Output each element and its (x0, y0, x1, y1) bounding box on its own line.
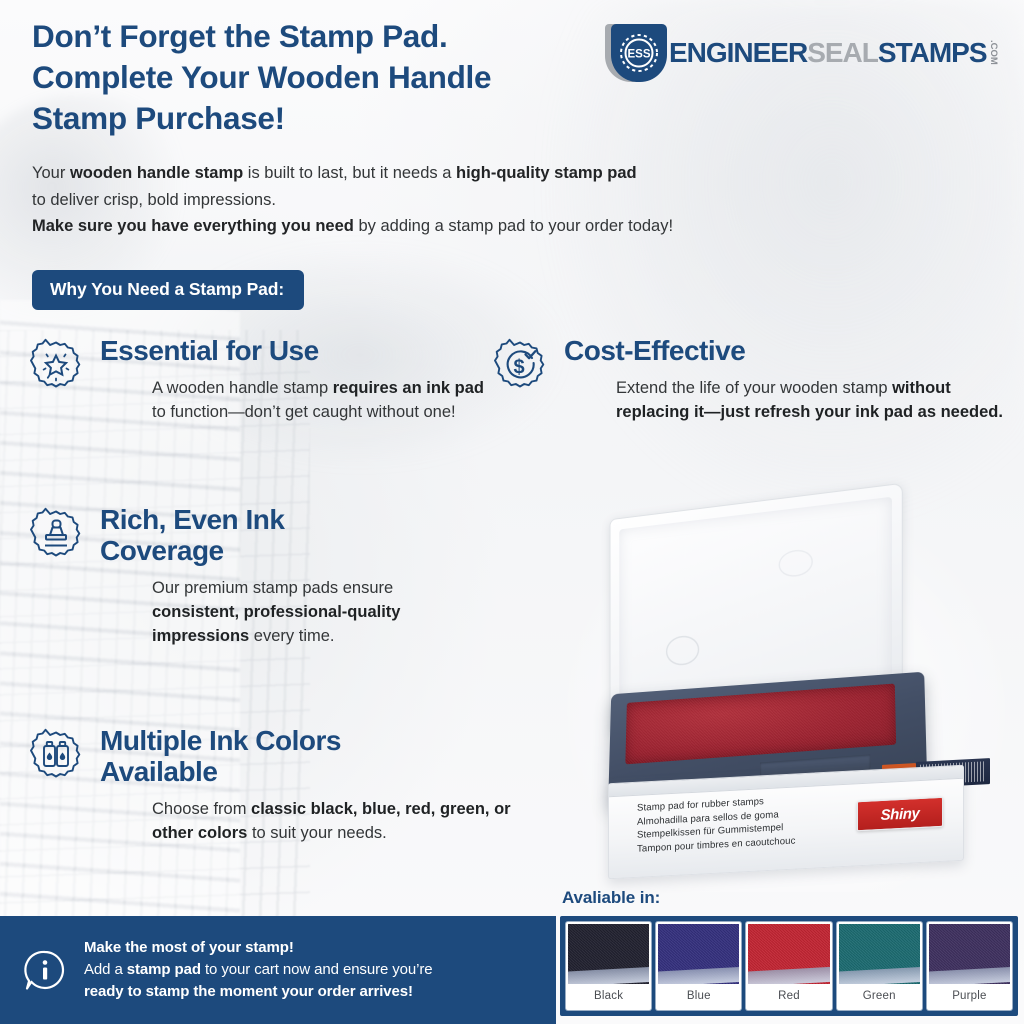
badge-star-icon (28, 338, 84, 394)
feature-title: Rich, Even Ink Coverage (100, 505, 458, 567)
shiny-brand-logo: Shiny (857, 797, 943, 832)
feature-title: Multiple Ink Colors Available (100, 726, 538, 788)
box-multilingual-text: Stamp pad for rubber stamps Almohadilla … (637, 794, 796, 857)
brand-logo[interactable]: ESS ENGINEERSEALSTAMPS.COM (605, 24, 998, 82)
intro-paragraph: Your wooden handle stamp is built to las… (32, 160, 912, 240)
ess-badge-text: ESS (627, 49, 650, 61)
info-bubble-icon (22, 947, 68, 993)
footer-cta-banner: Make the most of your stamp! Add a stamp… (0, 916, 556, 1024)
section-badge-why-stamp-pad: Why You Need a Stamp Pad: (32, 270, 304, 310)
feature-title: Cost-Effective (564, 336, 1022, 367)
product-box: Stamp pad for rubber stamps Almohadilla … (608, 765, 964, 880)
intro-line-2: to deliver crisp, bold impressions. (32, 187, 912, 214)
svg-text:$: $ (513, 357, 524, 379)
infographic-page: Don’t Forget the Stamp Pad. Complete You… (0, 0, 1024, 1024)
badge-stamp-icon (28, 507, 84, 563)
page-title: Don’t Forget the Stamp Pad. Complete You… (32, 16, 652, 139)
header: Don’t Forget the Stamp Pad. Complete You… (32, 16, 992, 139)
footer-line-1: Make the most of your stamp! (84, 937, 433, 959)
swatch-chip (568, 924, 649, 984)
intro-line-3: Make sure you have everything you need b… (32, 213, 912, 240)
headline-line-2: Complete Your Wooden Handle (32, 57, 652, 98)
swatch-black[interactable]: Black (566, 922, 651, 1010)
swatch-red[interactable]: Red (746, 922, 831, 1010)
ess-gear-badge-icon: ESS (605, 24, 667, 82)
swatch-label: Red (748, 984, 829, 1008)
feature-rich-even-ink-coverage: Rich, Even Ink Coverage Our premium stam… (28, 505, 458, 649)
swatch-green[interactable]: Green (837, 922, 922, 1010)
headline-line-3: Stamp Purchase! (32, 98, 652, 139)
swatch-chip (748, 924, 829, 984)
feature-body: Extend the life of your wooden stamp wit… (564, 376, 1022, 425)
swatch-chip (929, 924, 1010, 984)
footer-line-2: Add a stamp pad to your cart now and ens… (84, 959, 433, 981)
swatch-label: Blue (658, 984, 739, 1008)
badge-ink-bottles-icon (28, 728, 84, 784)
logo-word-stamps: STAMPS (878, 39, 987, 67)
logo-word-engineer: ENGINEER (669, 39, 807, 67)
feature-body: Our premium stamp pads ensure consistent… (100, 576, 458, 649)
swatch-label: Purple (929, 984, 1010, 1008)
swatch-label: Black (568, 984, 649, 1008)
red-ink-pad (625, 684, 896, 765)
feature-body: A wooden handle stamp requires an ink pa… (100, 376, 488, 425)
product-photo-stamp-pad: Stamp pad for rubber stamps Almohadilla … (556, 492, 1016, 892)
swatch-blue[interactable]: Blue (656, 922, 741, 1010)
headline-line-1: Don’t Forget the Stamp Pad. (32, 16, 652, 57)
footer-line-3: ready to stamp the moment your order arr… (84, 981, 433, 1003)
swatch-chip (658, 924, 739, 984)
feature-essential-for-use: Essential for Use A wooden handle stamp … (28, 336, 488, 425)
feature-cost-effective: $ Cost-Effective Extend the life of your… (492, 336, 1022, 425)
footer-text: Make the most of your stamp! Add a stamp… (84, 937, 433, 1003)
logo-word-seal: SEAL (807, 39, 878, 67)
feature-title: Essential for Use (100, 336, 488, 367)
color-swatch-list: Black Blue Red Green Purple (560, 916, 1018, 1016)
available-in-label: Avaliable in: (562, 888, 660, 908)
swatch-label: Green (839, 984, 920, 1008)
feature-multiple-ink-colors: Multiple Ink Colors Available Choose fro… (28, 726, 538, 845)
feature-body: Choose from classic black, blue, red, gr… (100, 797, 538, 846)
swatch-purple[interactable]: Purple (927, 922, 1012, 1010)
swatch-chip (839, 924, 920, 984)
logo-word-dotcom: .COM (989, 40, 999, 65)
intro-line-1: Your wooden handle stamp is built to las… (32, 160, 912, 187)
badge-dollar-check-icon: $ (492, 338, 548, 394)
